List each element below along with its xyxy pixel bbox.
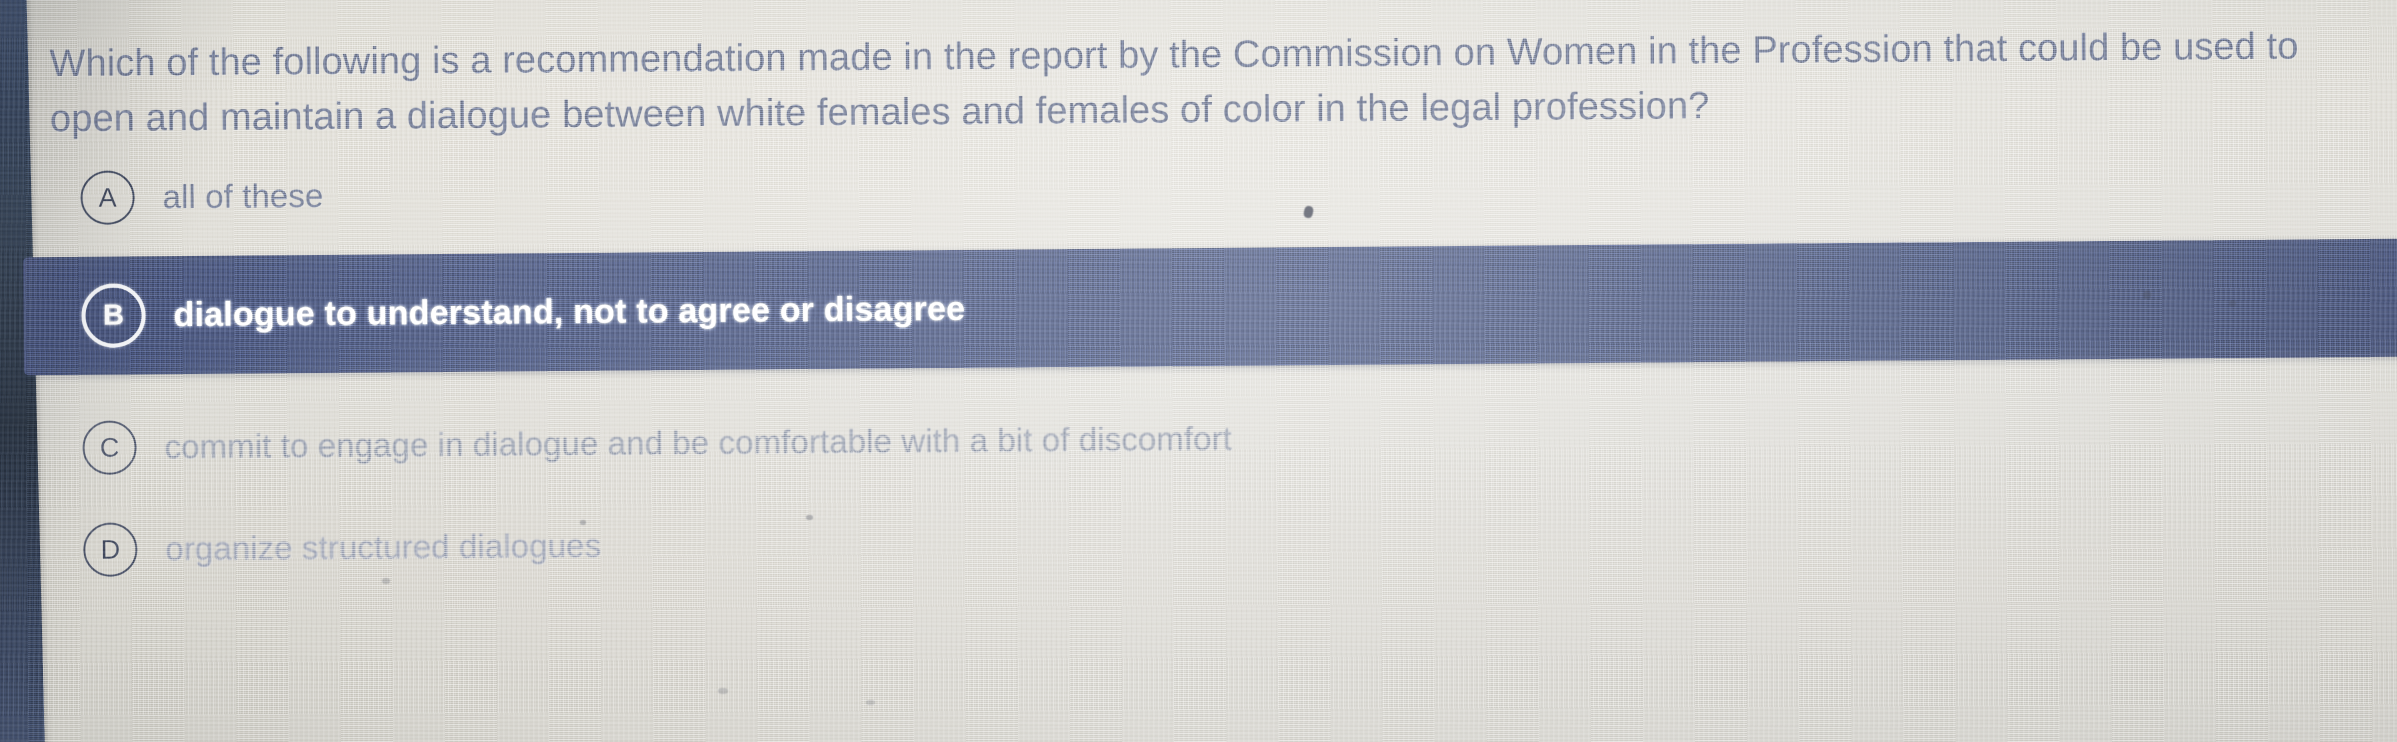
dust-speck	[718, 688, 728, 694]
option-label-b: dialogue to understand, not to agree or …	[173, 289, 965, 334]
option-letter-badge-c: C	[82, 420, 136, 474]
dust-speck	[580, 520, 586, 525]
dust-speck	[2143, 291, 2151, 299]
question-text: Which of the following is a recommendati…	[49, 19, 2350, 148]
dust-speck	[866, 700, 875, 705]
answer-option-a[interactable]: A all of these	[50, 137, 2361, 241]
option-letter-badge-d: D	[83, 522, 137, 576]
answer-options-list: A all of these B dialogue to understand,…	[50, 137, 2363, 609]
dust-speck	[382, 578, 390, 584]
option-label-d: organize structured dialogues	[165, 527, 601, 568]
dust-speck	[806, 515, 813, 520]
option-label-c: commit to engage in dialogue and be comf…	[164, 420, 1232, 466]
answer-option-d[interactable]: D organize structured dialogues	[53, 489, 2364, 593]
answer-option-b[interactable]: B dialogue to understand, not to agree o…	[23, 238, 2397, 375]
option-label-a: all of these	[162, 177, 323, 216]
option-letter-badge-b: B	[81, 283, 146, 348]
answer-option-c[interactable]: C commit to engage in dialogue and be co…	[52, 387, 2363, 491]
quiz-content: Which of the following is a recommendati…	[0, 0, 2397, 742]
option-letter-badge-a: A	[80, 170, 134, 224]
screen-photo: 1 8 Which of the following is a recommen…	[0, 0, 2397, 742]
dust-speck	[2229, 300, 2236, 307]
